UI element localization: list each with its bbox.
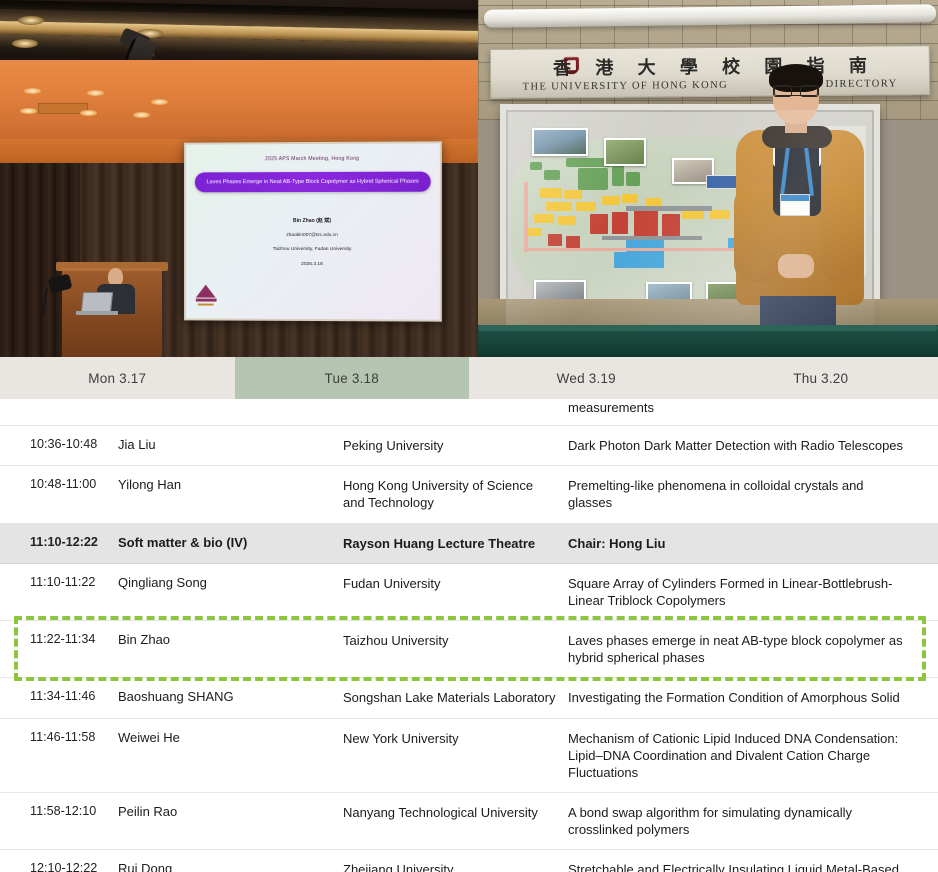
day-tab-label: Wed 3.19	[557, 371, 616, 386]
day-tab-wed[interactable]: Wed 3.19	[469, 357, 704, 399]
cell-title: Investigating the Formation Condition of…	[568, 689, 938, 706]
projection-screen: 2025 APS March Meeting, Hong Kong Laves …	[184, 141, 442, 321]
map-photo-inset	[604, 138, 646, 166]
schedule-table: measurements 10:36-10:48 Jia Liu Peking …	[0, 399, 938, 872]
wall-downlight-icon	[133, 112, 150, 118]
cell-affiliation: Hong Kong University of Science and Tech…	[343, 477, 568, 511]
cell-affiliation: New York University	[343, 730, 568, 747]
nsfc-logo-icon	[195, 285, 217, 311]
laptop-base	[76, 311, 118, 315]
wall-downlight-icon	[20, 108, 37, 114]
cell-venue: Rayson Huang Lecture Theatre	[343, 535, 568, 552]
wall-downlight-icon	[24, 88, 41, 94]
day-tab-label: Thu 3.20	[793, 371, 848, 386]
laptop-icon	[81, 292, 113, 312]
cell-time: 11:58-12:10	[0, 804, 118, 818]
wall-downlight-icon	[151, 99, 168, 105]
table-row[interactable]: 11:10-11:22 Qingliang Song Fudan Univers…	[0, 564, 938, 621]
table-row-session-header[interactable]: 11:10-12:22 Soft matter & bio (IV) Rayso…	[0, 524, 938, 564]
cell-time: 11:34-11:46	[0, 689, 118, 703]
cell-speaker: Baoshuang SHANG	[118, 689, 343, 704]
cell-time: 11:10-12:22	[0, 535, 118, 549]
cell-time: 10:48-11:00	[0, 477, 118, 491]
cell-time: 12:10-12:22	[0, 861, 118, 872]
cell-time: 11:22-11:34	[0, 632, 118, 646]
table-row[interactable]: 12:10-12:22 Rui Dong Zhejiang University…	[0, 850, 938, 872]
conference-talk-photo: 2025 APS March Meeting, Hong Kong Laves …	[0, 0, 478, 357]
ceiling-downlight-icon	[12, 39, 38, 48]
right-arm	[820, 184, 864, 282]
cell-time: 10:36-10:48	[0, 437, 118, 451]
day-tab-label: Mon 3.17	[88, 371, 146, 386]
slide-date: 2025.3.18	[193, 262, 433, 267]
table-row[interactable]: 11:34-11:46 Baoshuang SHANG Songshan Lak…	[0, 678, 938, 718]
cell-title: Stretchable and Electrically Insulating …	[568, 861, 938, 872]
day-tab-mon[interactable]: Mon 3.17	[0, 357, 235, 399]
cell-title: Dark Photon Dark Matter Detection with R…	[568, 437, 938, 454]
ceiling-downlight-icon	[18, 16, 44, 25]
cell-speaker: Peilin Rao	[118, 804, 343, 819]
cell-title: Mechanism of Cationic Lipid Induced DNA …	[568, 730, 938, 781]
cell-speaker: Qingliang Song	[118, 575, 343, 590]
cell-chair: Chair: Hong Liu	[568, 535, 938, 552]
map-photo-inset	[532, 128, 588, 156]
cell-affiliation: Songshan Lake Materials Laboratory	[343, 689, 568, 706]
cell-session-name: Soft matter & bio (IV)	[118, 535, 343, 550]
cell-affiliation: Taizhou University	[343, 632, 568, 649]
cell-speaker: Bin Zhao	[118, 632, 343, 647]
table-row-highlighted[interactable]: 11:22-11:34 Bin Zhao Taizhou University …	[0, 621, 938, 678]
wall-downlight-icon	[87, 90, 104, 96]
slide-affiliation: Taizhou University, Fudan University	[193, 247, 433, 252]
cell-affiliation: Nanyang Technological University	[343, 804, 568, 821]
cell-time: 11:10-11:22	[0, 575, 118, 589]
glasses-icon	[774, 86, 818, 96]
cell-speaker: Yilong Han	[118, 477, 343, 492]
cell-title: Premelting-like phenomena in colloidal c…	[568, 477, 938, 511]
cell-affiliation: Peking University	[343, 437, 568, 454]
cell-affiliation: Zhejiang University	[343, 861, 568, 872]
cell-speaker: Rui Dong	[118, 861, 343, 872]
conference-badge	[780, 194, 810, 216]
day-tab-label: Tue 3.18	[325, 371, 379, 386]
slide-email: zhaobin007@tzc.edu.cn	[193, 233, 433, 238]
photo-strip: 2025 APS March Meeting, Hong Kong Laves …	[0, 0, 938, 357]
table-row[interactable]: 10:36-10:48 Jia Liu Peking University Da…	[0, 426, 938, 466]
slide-title: Laves Phases Emerge in Neat AB-Type Bloc…	[195, 172, 431, 193]
cell-speaker: Weiwei He	[118, 730, 343, 745]
wall-downlight-icon	[80, 110, 97, 116]
clasped-hands	[778, 254, 814, 278]
day-tab-thu[interactable]: Thu 3.20	[704, 357, 938, 399]
table-row-partial[interactable]: measurements	[0, 399, 938, 426]
table-row[interactable]: 11:58-12:10 Peilin Rao Nanyang Technolog…	[0, 793, 938, 850]
cell-title: A bond swap algorithm for simulating dyn…	[568, 804, 938, 838]
cell-affiliation: Fudan University	[343, 575, 568, 592]
sign-university-name: THE UNIVERSITY OF HONG KONG	[523, 80, 728, 93]
green-railing	[478, 325, 938, 357]
table-row[interactable]: 11:46-11:58 Weiwei He New York Universit…	[0, 719, 938, 793]
slide-header: 2025 APS March Meeting, Hong Kong	[193, 155, 433, 162]
hku-campus-directory-photo: 香 港 大 學 校 園 指 南 THE UNIVERSITY OF HONG K…	[478, 0, 938, 357]
hall-wall-upper	[0, 60, 478, 142]
cell-title: Laves phases emerge in neat AB-type bloc…	[568, 632, 938, 666]
day-tab-bar: Mon 3.17 Tue 3.18 Wed 3.19 Thu 3.20	[0, 357, 938, 399]
day-tab-tue[interactable]: Tue 3.18	[235, 357, 470, 399]
cell-title: measurements	[568, 399, 938, 416]
cell-title: Square Array of Cylinders Formed in Line…	[568, 575, 938, 609]
person-portrait	[726, 64, 886, 357]
cell-speaker: Jia Liu	[118, 437, 343, 452]
slide-author: Bin Zhao (赵 斌)	[193, 217, 433, 224]
cell-time: 11:46-11:58	[0, 730, 118, 744]
table-row[interactable]: 10:48-11:00 Yilong Han Hong Kong Univers…	[0, 466, 938, 523]
